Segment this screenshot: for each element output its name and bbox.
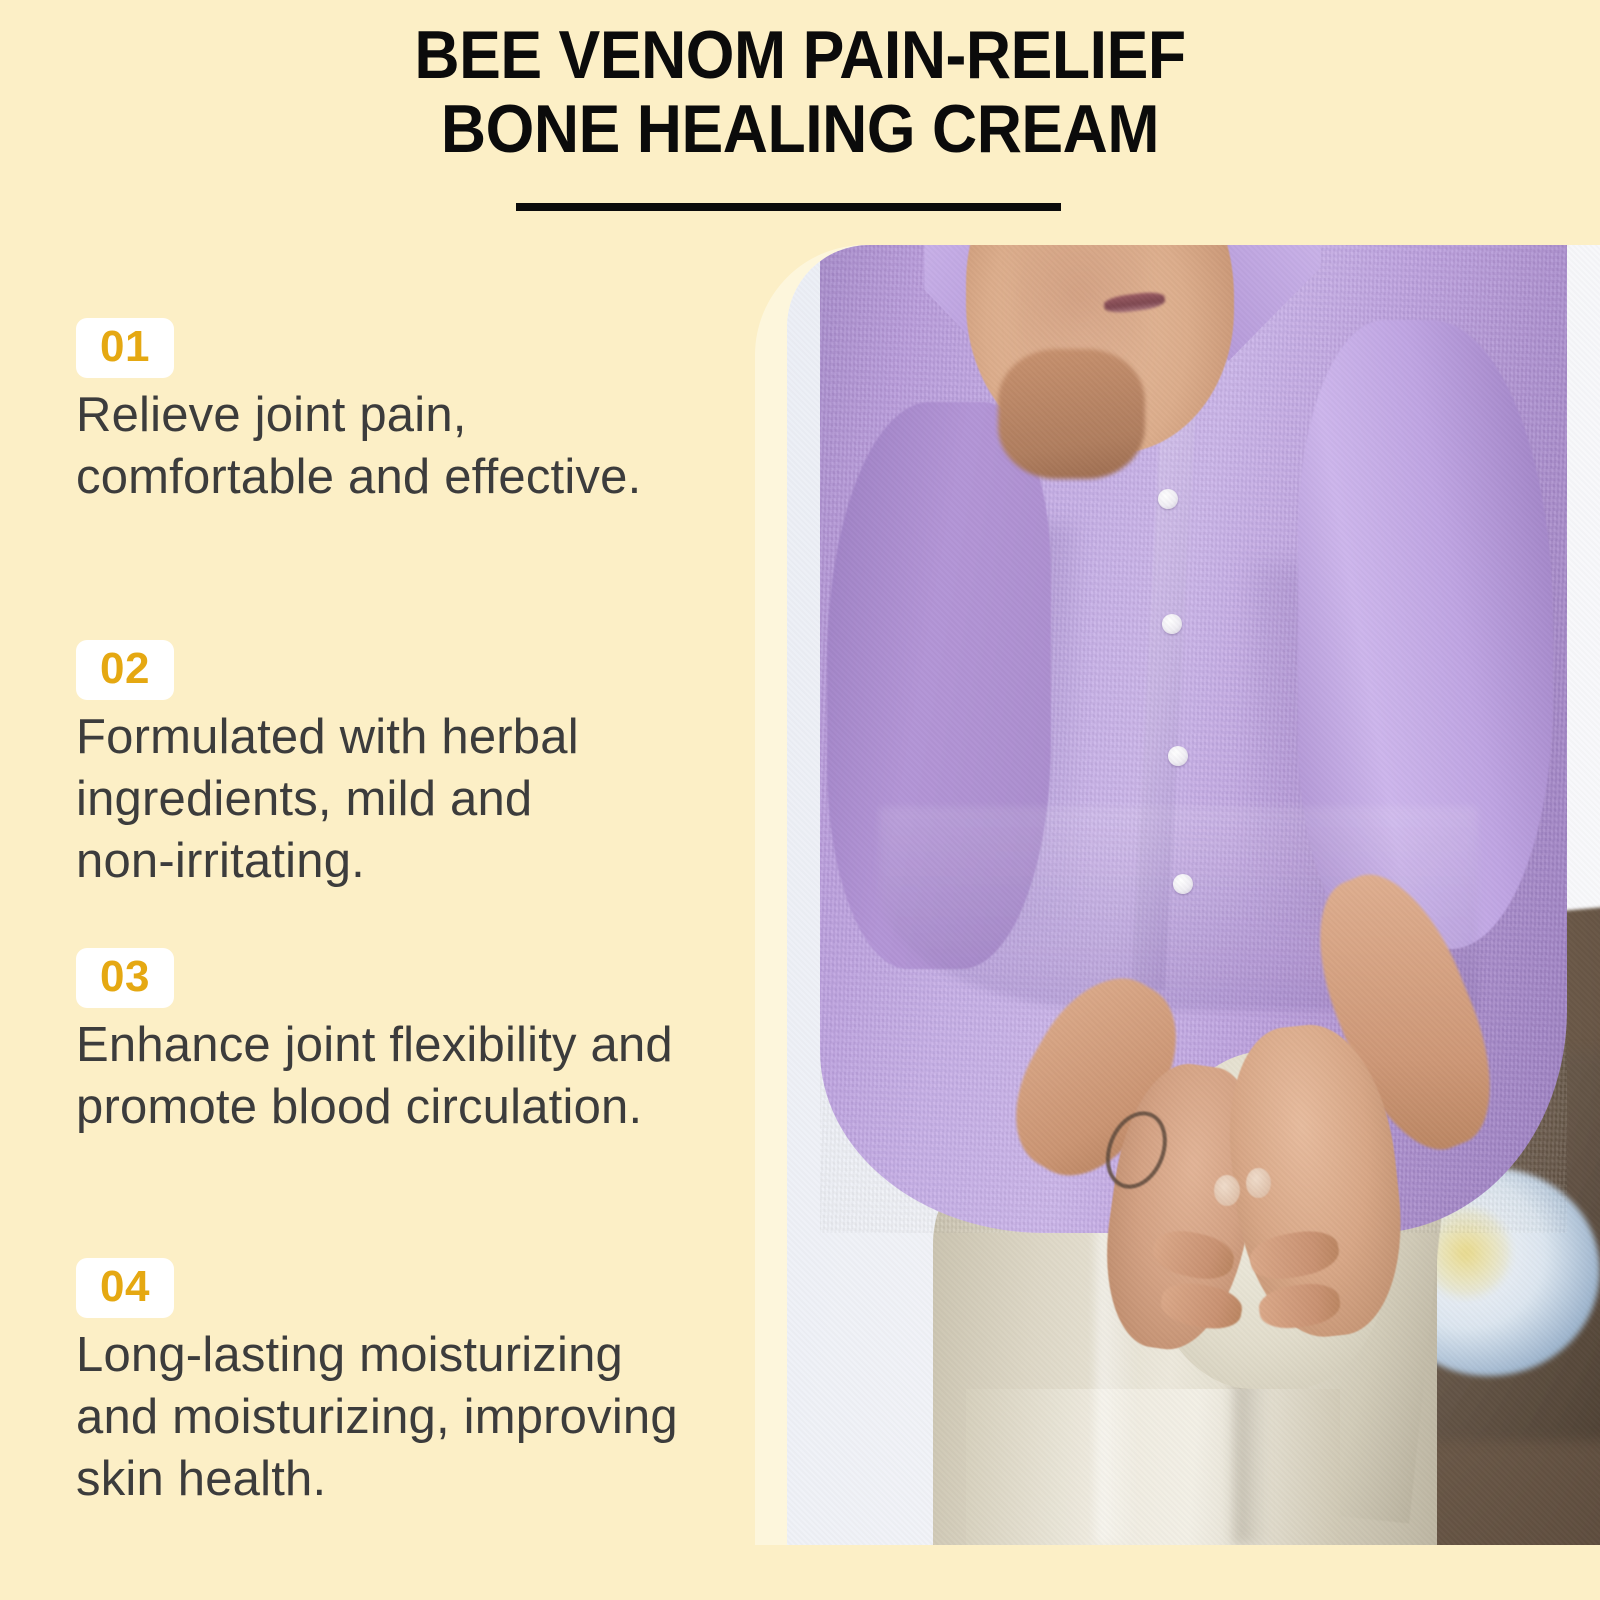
photo-fingernail	[1246, 1168, 1270, 1198]
feature-text-02: Formulated with herbal ingredients, mild…	[76, 706, 736, 892]
feature-text-03: Enhance joint flexibility and promote bl…	[76, 1014, 736, 1138]
feature-badge-02: 02	[76, 640, 174, 700]
feature-list: 01 Relieve joint pain, comfortable and e…	[0, 0, 760, 1600]
feature-number-02: 02	[100, 646, 150, 692]
feature-item-04: 04 Long-lasting moisturizing and moistur…	[76, 1258, 736, 1510]
feature-item-02: 02 Formulated with herbal ingredients, m…	[76, 640, 736, 892]
feature-number-01: 01	[100, 324, 150, 370]
infographic-canvas: BEE VENOM PAIN-RELIEF BONE HEALING CREAM…	[0, 0, 1600, 1600]
feature-badge-03: 03	[76, 948, 174, 1008]
photo-shirt-button	[1158, 489, 1178, 509]
photo-neck	[998, 349, 1144, 479]
photo-fingernail	[1214, 1175, 1240, 1206]
feature-badge-04: 04	[76, 1258, 174, 1318]
feature-badge-01: 01	[76, 318, 174, 378]
photo-shirt-button	[1173, 874, 1193, 894]
feature-text-01: Relieve joint pain, comfortable and effe…	[76, 384, 736, 508]
feature-item-01: 01 Relieve joint pain, comfortable and e…	[76, 318, 736, 508]
product-lifestyle-photo	[787, 245, 1600, 1545]
feature-number-03: 03	[100, 954, 150, 1000]
photo-trousers-lower	[966, 1389, 1340, 1545]
feature-item-03: 03 Enhance joint flexibility and promote…	[76, 948, 736, 1138]
feature-number-04: 04	[100, 1264, 150, 1310]
feature-text-04: Long-lasting moisturizing and moisturizi…	[76, 1324, 736, 1510]
